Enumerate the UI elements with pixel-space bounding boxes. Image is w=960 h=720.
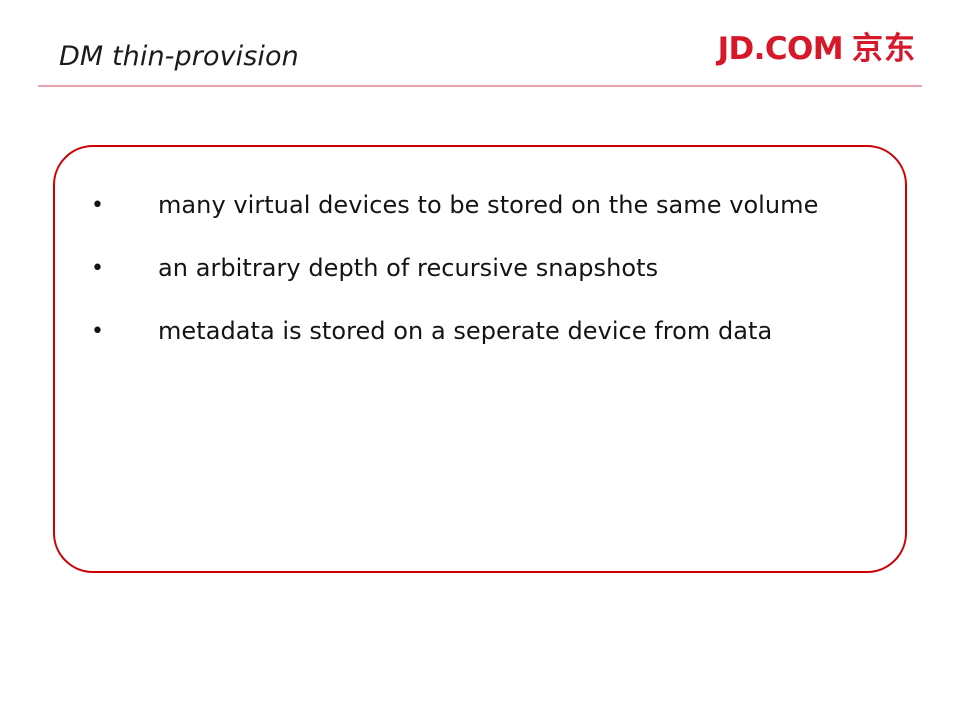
page-title: DM thin-provision <box>59 41 299 73</box>
list-item-label: an arbitrary depth of recursive snapshot… <box>158 245 858 292</box>
bullet-list: • many virtual devices to be stored on t… <box>90 182 881 355</box>
bullet-dot-icon: • <box>91 245 107 292</box>
slide-header: DM thin-provision JD.COM 京东 <box>0 0 960 92</box>
list-item: • metadata is stored on a seperate devic… <box>90 308 881 355</box>
jd-logo-cjk-text: 京东 <box>852 32 916 66</box>
list-item-label: many virtual devices to be stored on the… <box>158 182 858 229</box>
content-panel: • many virtual devices to be stored on t… <box>53 145 907 573</box>
jd-logo-latin-text: JD.COM <box>718 32 843 66</box>
bullet-dot-icon: • <box>91 182 107 229</box>
bullet-dot-icon: • <box>91 308 107 355</box>
jd-logo: JD.COM 京东 <box>718 32 916 66</box>
header-divider <box>38 85 922 87</box>
list-item: • an arbitrary depth of recursive snapsh… <box>90 245 881 292</box>
list-item: • many virtual devices to be stored on t… <box>90 182 881 229</box>
slide: DM thin-provision JD.COM 京东 • many virtu… <box>0 0 960 720</box>
list-item-label: metadata is stored on a seperate device … <box>158 308 858 355</box>
